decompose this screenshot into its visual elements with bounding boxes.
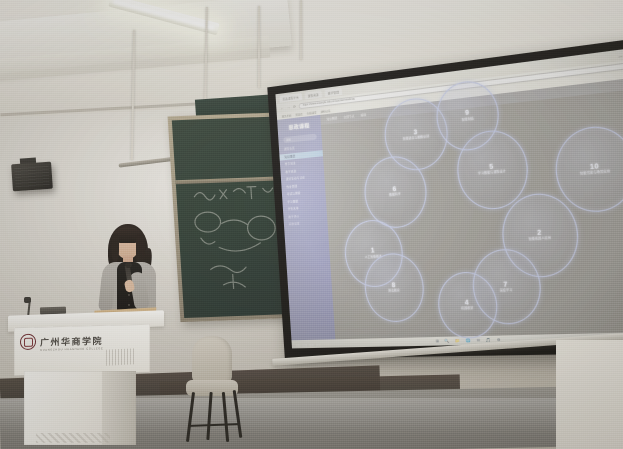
speaker-grill — [14, 166, 49, 188]
topbar-edit-button[interactable]: 编辑 — [361, 113, 367, 118]
lectern-vent — [106, 348, 136, 366]
app-main-panel: 知识图谱 全部节点 编辑 1人工智能概述2智能机器人应用3智能语音与图像识别4机… — [320, 76, 623, 339]
knowledge-graph-canvas[interactable]: 1人工智能概述2智能机器人应用3智能语音与图像识别4机器视觉5学习数据与课程设计… — [321, 87, 623, 339]
sidebar-item-label: 课程首页 — [284, 146, 295, 151]
sidebar-item-label: 考试与测验 — [287, 191, 301, 196]
web-app: 思政课程 搜索 课程首页 知识图谱 章节目录 教学资源 课堂互动与讨论 作业管理 — [277, 76, 623, 340]
graph-node-label: 算法概论 — [388, 289, 400, 293]
sidebar-menu: 课程首页 知识图谱 章节目录 教学资源 课堂互动与讨论 作业管理 考试与测验 学… — [279, 142, 328, 232]
chair-backrest — [192, 336, 232, 384]
browser-tab-label: 课程资源 — [308, 92, 319, 97]
footer-link-feedback[interactable]: 反馈 — [302, 343, 307, 347]
university-seal-icon — [20, 334, 36, 350]
start-icon[interactable]: ⊞ — [435, 337, 439, 345]
search-placeholder: 搜索 — [286, 137, 291, 142]
forward-icon[interactable]: → — [286, 104, 290, 110]
folder-icon[interactable]: 📁 — [455, 337, 461, 345]
back-icon[interactable]: ← — [280, 105, 284, 111]
lectern: 广州华商学院 GUANGZHOU HUASHANG COLLEGE — [6, 313, 166, 445]
screen-bezel: 思政课程平台 课程资源 教学管理 — □ ✕ — [267, 36, 623, 359]
footer-link-version[interactable]: 版本 — [309, 343, 314, 347]
projected-content: 思政课程平台 课程资源 教学管理 — □ ✕ — [275, 46, 623, 348]
bookmark-item[interactable]: 在线课堂 — [306, 110, 316, 115]
sidebar-item-label: 知识图谱 — [284, 154, 295, 159]
hanging-rod — [258, 6, 260, 88]
screen-surface: 思政课程平台 课程资源 教学管理 — □ ✕ — [275, 46, 623, 348]
right-wall-panel — [556, 340, 623, 449]
sidebar-item-label: 课堂互动与讨论 — [286, 176, 305, 182]
sidebar-item-label: 教学资源 — [285, 169, 296, 174]
minimize-icon[interactable]: — — [618, 52, 623, 59]
browser-tab-label: 教学管理 — [328, 90, 340, 95]
chair-crossbar — [190, 423, 238, 427]
graph-node-label: 智能机器人应用 — [528, 236, 551, 241]
sidebar-item-label: 章节目录 — [285, 161, 296, 166]
bookmark-item[interactable]: 资源库 — [295, 111, 303, 116]
sidebar-item-label: 学习数据 — [287, 199, 298, 204]
chair-leg — [206, 392, 212, 440]
graph-node-8[interactable]: 8算法概论 — [362, 252, 426, 323]
graph-node-10[interactable]: 10智能驾驶与场景应用 — [552, 123, 623, 214]
lectern-mic-head — [24, 297, 31, 303]
chair-leg — [186, 392, 195, 442]
sidebar-item-label: 学生名单 — [288, 206, 299, 211]
lectern-side-bracket — [4, 341, 12, 345]
footer-link-about[interactable]: 关于 — [316, 343, 321, 347]
hanging-rod — [300, 0, 302, 60]
sidebar-item-label: 系统设置 — [289, 222, 300, 227]
university-name-cn: 广州华商学院 — [40, 333, 103, 348]
search-icon[interactable]: 🔍 — [444, 337, 450, 345]
wall-speaker-icon — [11, 162, 53, 192]
graph-node-label: 学习数据与课程设计 — [478, 170, 506, 176]
topbar-title: 知识图谱 — [326, 116, 337, 121]
window-controls: — □ ✕ — [618, 50, 623, 60]
chair-leg — [233, 390, 242, 438]
classroom-photo: 思政课程平台 课程资源 教学管理 — □ ✕ — [0, 0, 623, 449]
graph-node-label: 深度学习 — [500, 289, 513, 293]
graph-node-label: 机器视觉 — [461, 307, 473, 311]
sidebar-item-label: 作业管理 — [286, 184, 297, 189]
microphone-head — [125, 262, 132, 268]
sidebar-search-input[interactable]: 搜索 — [283, 134, 317, 144]
footer-link-help[interactable]: 帮助 — [296, 343, 301, 347]
graph-node-label: 数据科学 — [389, 193, 401, 197]
topbar-filter[interactable]: 全部节点 — [343, 114, 354, 119]
sidebar-item-label: 教学评价 — [288, 214, 299, 219]
presenter-hair-side — [111, 234, 119, 262]
reload-icon[interactable]: ⟳ — [293, 103, 296, 109]
graph-node-label: 智能驾驶与场景应用 — [580, 170, 611, 176]
browser-tab-label: 思政课程平台 — [282, 95, 299, 101]
classroom-chair — [178, 336, 246, 444]
graph-node-label: 智能制造 — [462, 117, 474, 122]
chair-leg — [222, 392, 229, 442]
bookmark-item[interactable]: 通知公告 — [320, 108, 330, 113]
projection-screen: 思政课程平台 课程资源 教学管理 — □ ✕ — [267, 36, 623, 359]
bookmark-item[interactable]: 教务系统 — [282, 113, 292, 118]
lectern-decor-panel — [36, 433, 110, 443]
graph-node-label: 智能语音与图像识别 — [403, 135, 429, 141]
sidebar-footer: 帮助 反馈 版本 关于 — [292, 342, 336, 347]
